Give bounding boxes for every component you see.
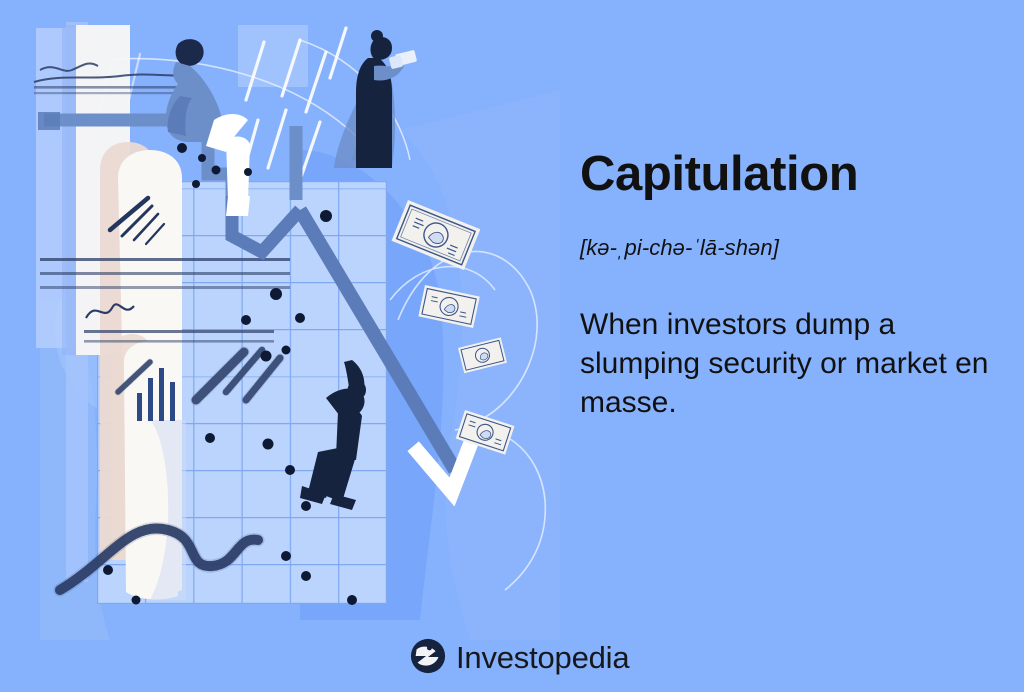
falling-market-illustration [0,0,560,640]
definition-text: When investors dump a slumping security … [580,305,992,422]
pronunciation: [kə-ˌpi-chə-ˈlā-shən] [580,235,1000,261]
illustration-card: Capitulation [kə-ˌpi-chə-ˈlā-shən] When … [0,0,1024,692]
investopedia-circle-logo-icon [409,637,447,675]
term-title: Capitulation [580,150,1000,199]
investopedia-wordmark: Investopedia [456,642,629,673]
binoculars-figure [334,30,417,168]
investopedia-logo: Investopedia [409,637,629,675]
definition-panel: Capitulation [kə-ˌpi-chə-ˈlā-shən] When … [580,150,1000,422]
translucent-square [238,25,308,87]
